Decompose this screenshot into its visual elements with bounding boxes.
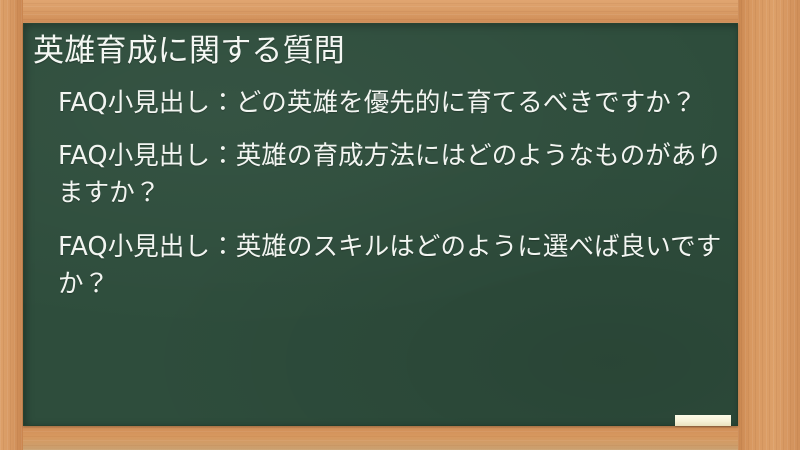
frame-rail-left bbox=[0, 0, 23, 450]
faq-list-item: FAQ小見出し：どの英雄を優先的に育てるべきですか？ bbox=[58, 85, 723, 122]
faq-list-item: FAQ小見出し：英雄の育成方法にはどのようなものがありますか？ bbox=[58, 138, 723, 212]
frame-rail-right bbox=[738, 0, 800, 450]
frame-rail-top bbox=[0, 0, 800, 23]
chalk-stick-icon bbox=[675, 415, 731, 426]
faq-list: FAQ小見出し：どの英雄を優先的に育てるべきですか？ FAQ小見出し：英雄の育成… bbox=[58, 85, 723, 303]
faq-list-item: FAQ小見出し：英雄のスキルはどのように選べば良いですか？ bbox=[58, 229, 723, 303]
page-title: 英雄育成に関する質問 bbox=[33, 31, 723, 71]
chalkboard: 英雄育成に関する質問 FAQ小見出し：どの英雄を優先的に育てるべきですか？ FA… bbox=[23, 23, 738, 426]
frame-rail-bottom bbox=[0, 426, 800, 450]
chalkboard-content: 英雄育成に関する質問 FAQ小見出し：どの英雄を優先的に育てるべきですか？ FA… bbox=[23, 23, 738, 426]
blackboard-slide: 英雄育成に関する質問 FAQ小見出し：どの英雄を優先的に育てるべきですか？ FA… bbox=[0, 0, 800, 450]
